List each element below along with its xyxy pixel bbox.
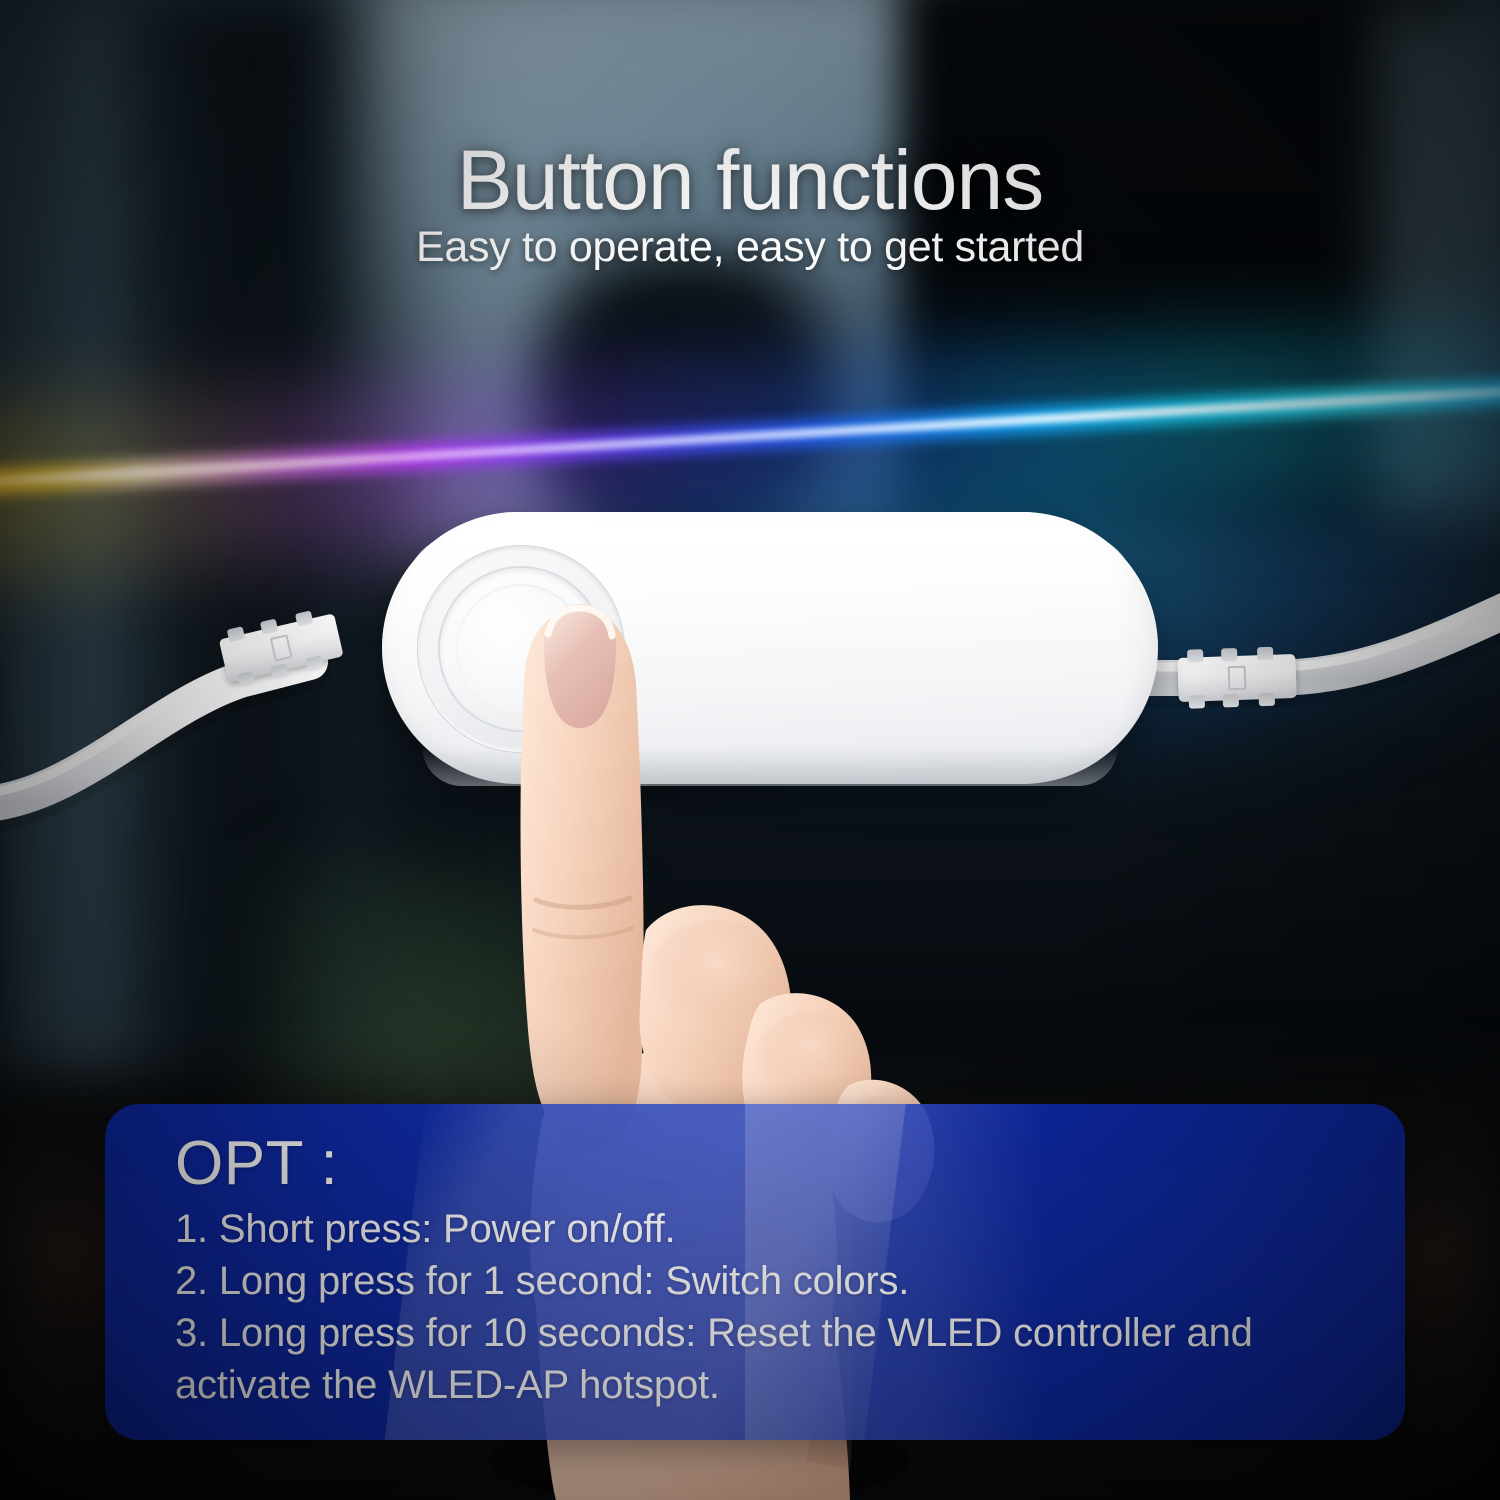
product-feature-image: Button functions Easy to operate, easy t… (0, 0, 1500, 1500)
vignette-overlay (0, 0, 1500, 1500)
